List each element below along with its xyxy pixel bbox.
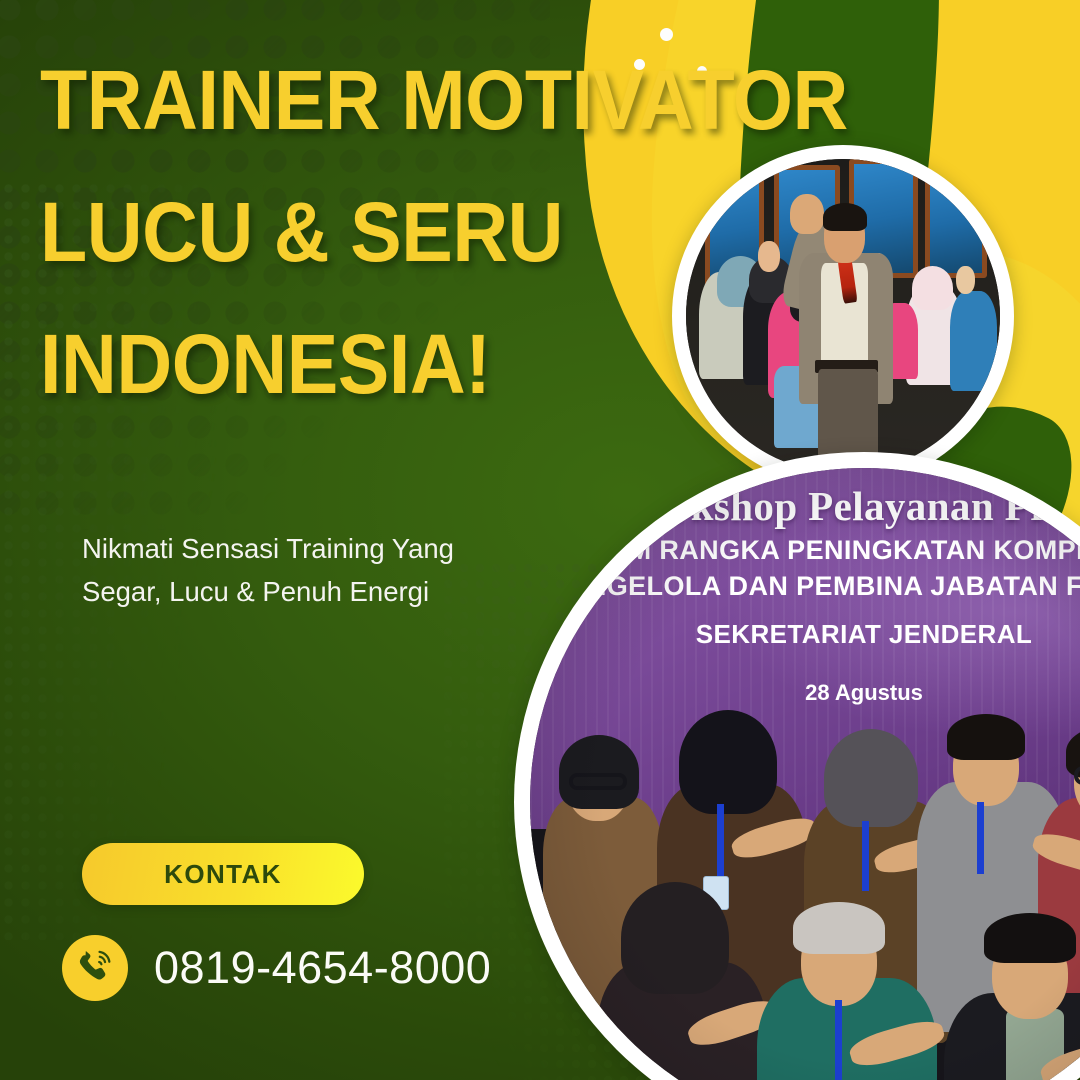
headline-line-3: INDONESIA! bbox=[40, 322, 702, 406]
raised-hand bbox=[758, 241, 780, 272]
photo-vignette bbox=[530, 468, 1080, 1080]
subtitle: Nikmati Sensasi Training Yang Segar, Luc… bbox=[82, 528, 552, 613]
phone-call-icon[interactable] bbox=[62, 935, 128, 1001]
trainer-waving-hand bbox=[790, 194, 825, 235]
contact-row[interactable]: 0819-4654-8000 bbox=[62, 935, 491, 1001]
raised-hand bbox=[956, 266, 975, 294]
trainer-hair bbox=[823, 203, 867, 231]
group-scene: Workshop Pelayanan Prima DALAM RANGKA PE… bbox=[530, 468, 1080, 1080]
decorative-dot bbox=[660, 28, 673, 41]
audience-member bbox=[950, 291, 997, 391]
subtitle-line-1: Nikmati Sensasi Training Yang bbox=[82, 528, 552, 571]
window-pane bbox=[925, 165, 988, 278]
subtitle-line-2: Segar, Lucu & Penuh Energi bbox=[82, 571, 552, 614]
promo-poster: Workshop Pelayanan Prima DALAM RANGKA PE… bbox=[0, 0, 1080, 1080]
kontak-button[interactable]: KONTAK bbox=[82, 843, 364, 905]
group-participants-photo: Workshop Pelayanan Prima DALAM RANGKA PE… bbox=[514, 452, 1080, 1080]
page-title: TRAINER MOTIVATOR LUCU & SERU INDONESIA! bbox=[40, 58, 760, 406]
audience-member-head bbox=[912, 266, 953, 310]
group-photo-inner: Workshop Pelayanan Prima DALAM RANGKA PE… bbox=[530, 468, 1080, 1080]
headline-line-2: LUCU & SERU bbox=[40, 190, 702, 274]
headline-line-1: TRAINER MOTIVATOR bbox=[40, 58, 702, 142]
phone-number[interactable]: 0819-4654-8000 bbox=[154, 942, 491, 994]
